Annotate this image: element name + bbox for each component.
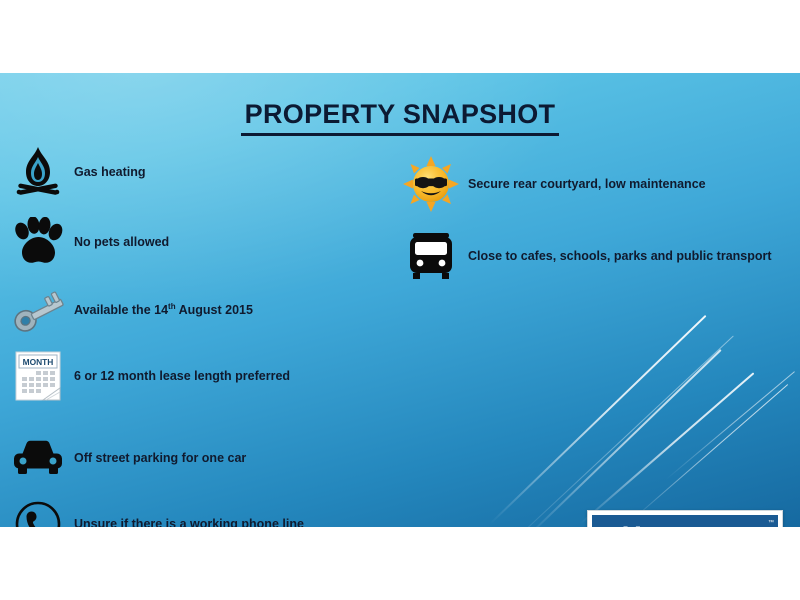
availability-prefix: Available the 14 (74, 303, 168, 317)
page-title-text: PROPERTY SNAPSHOT (241, 99, 560, 136)
feature-list-left: Gas heating No pets allowed (8, 141, 378, 527)
logo-banner: Harcourts ™ SINCE 1888 (592, 515, 778, 527)
bus-icon (400, 227, 462, 285)
feature-label: Secure rear courtyard, low maintenance (468, 176, 706, 193)
page-title: PROPERTY SNAPSHOT (0, 99, 800, 136)
sun-with-sunglasses-icon (400, 155, 462, 213)
car-icon (8, 430, 68, 486)
key-icon (8, 282, 68, 338)
telephone-icon (8, 496, 68, 527)
feature-label: Available the 14th August 2015 (74, 302, 253, 319)
harcourts-logo: Harcourts ™ SINCE 1888 LAUNCESTON A MEMB… (587, 510, 783, 527)
screenshot-canvas: PROPERTY SNAPSHOT Gas heating (0, 0, 800, 600)
calendar-month-label: MONTH (23, 357, 54, 367)
feature-phone-line: Unsure if there is a working phone line (8, 493, 378, 527)
calendar-icon: MONTH (8, 348, 68, 404)
feature-parking: Off street parking for one car (8, 427, 378, 489)
paw-print-icon (8, 214, 68, 270)
feature-label: No pets allowed (74, 234, 169, 251)
feature-list-right: Secure rear courtyard, low maintenance C… (400, 155, 790, 299)
availability-ordinal: th (168, 302, 176, 311)
feature-label: Off street parking for one car (74, 450, 246, 467)
trademark-icon: ™ (768, 520, 774, 526)
feature-courtyard: Secure rear courtyard, low maintenance (400, 155, 790, 213)
campfire-icon (8, 144, 68, 200)
feature-label: 6 or 12 month lease length preferred (74, 368, 290, 385)
feature-lease-length: MONTH 6 or 12 month lease length preferr… (8, 345, 378, 407)
feature-transport: Close to cafes, schools, parks and publi… (400, 227, 790, 285)
property-snapshot-slide: PROPERTY SNAPSHOT Gas heating (0, 73, 800, 527)
availability-suffix: August 2015 (176, 303, 253, 317)
feature-label: Gas heating (74, 164, 146, 181)
feature-gas-heating: Gas heating (8, 141, 378, 203)
feature-label: Unsure if there is a working phone line (74, 516, 304, 527)
feature-label: Close to cafes, schools, parks and publi… (468, 248, 772, 265)
logo-wordmark: Harcourts (622, 522, 749, 527)
feature-availability: Available the 14th August 2015 (8, 279, 378, 341)
feature-no-pets: No pets allowed (8, 211, 378, 273)
